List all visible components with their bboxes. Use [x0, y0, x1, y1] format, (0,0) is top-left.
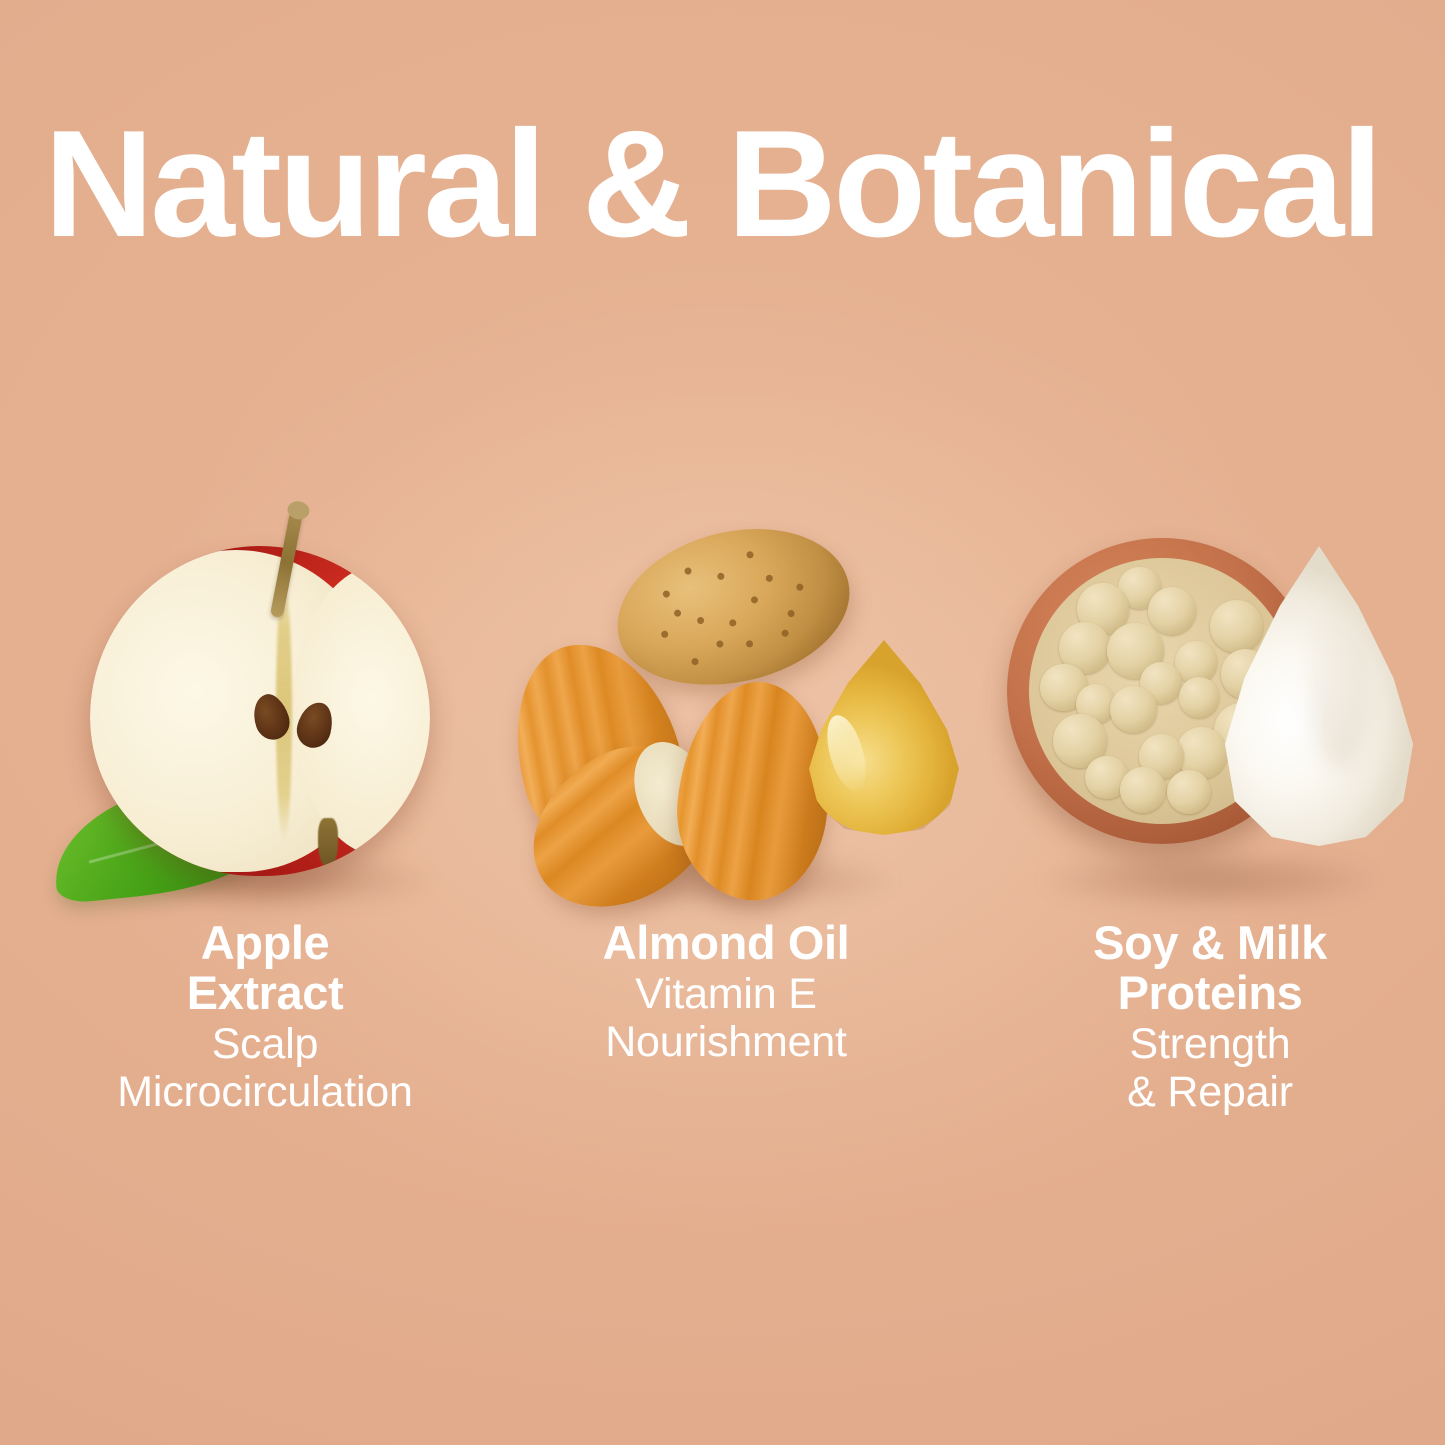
shell-pore — [787, 609, 795, 617]
apple-icon — [52, 538, 472, 888]
ingredient-benefit-line-1: Strength — [975, 1020, 1445, 1068]
apple-calyx — [318, 818, 338, 868]
poster-canvas: Natural & Botanical Apple Extract — [0, 0, 1445, 1445]
apple-body — [90, 546, 430, 876]
ingredient-benefit: Scalp Microcirculation — [30, 1020, 500, 1116]
almonds-icon — [509, 532, 949, 892]
ingredient-name: Apple Extract — [30, 918, 500, 1018]
shell-pore — [662, 590, 670, 598]
ingredient-card-soy-milk-proteins: Soy & Milk Proteins Strength & Repair — [975, 500, 1445, 915]
almond-oil-caption: Almond Oil Vitamin E Nourishment — [491, 918, 961, 1066]
ingredient-benefit-line-2: & Repair — [975, 1068, 1445, 1116]
ingredient-name: Soy & Milk Proteins — [975, 918, 1445, 1018]
shell-pore — [765, 574, 773, 582]
ingredient-benefit-line-2: Microcirculation — [30, 1068, 500, 1116]
shell-pore — [661, 630, 669, 638]
soybean — [1110, 686, 1157, 733]
shell-pore — [716, 640, 724, 648]
shell-pore — [691, 657, 699, 665]
oil-drop-icon — [809, 640, 959, 835]
apple-extract-caption: Apple Extract Scalp Microcirculation — [30, 918, 500, 1116]
soybean — [1210, 600, 1263, 653]
shell-pore — [796, 583, 804, 591]
soybean — [1120, 767, 1166, 813]
ingredient-name: Almond Oil — [491, 918, 961, 968]
shell-pore — [673, 609, 681, 617]
ingredient-name-line-1: Almond Oil — [491, 918, 961, 968]
soy-bowl-icon — [993, 528, 1433, 896]
ingredient-card-almond-oil: Almond Oil Vitamin E Nourishment — [491, 500, 961, 915]
shell-pore — [729, 619, 737, 627]
ingredient-name-line-1: Apple — [30, 918, 500, 968]
soy-milk-caption: Soy & Milk Proteins Strength & Repair — [975, 918, 1445, 1116]
shell-pore — [745, 551, 753, 559]
shell-pore — [781, 629, 789, 637]
ingredient-name-line-1: Soy & Milk — [975, 918, 1445, 968]
apple-extract-artwork — [30, 500, 500, 915]
ingredient-benefit-line-1: Vitamin E — [491, 970, 961, 1018]
almond-oil-artwork — [491, 500, 961, 915]
soybean — [1148, 587, 1196, 635]
almond-kernel — [668, 675, 840, 907]
shell-pore — [745, 640, 753, 648]
ingredient-card-apple-extract: Apple Extract Scalp Microcirculation — [30, 500, 500, 915]
apple-flesh — [90, 550, 386, 872]
shell-pore — [684, 567, 692, 575]
shell-pore — [716, 572, 724, 580]
soybean — [1167, 770, 1211, 814]
shell-pore — [750, 596, 758, 604]
ingredient-name-line-2: Extract — [30, 968, 500, 1018]
ingredient-benefit: Strength & Repair — [975, 1020, 1445, 1116]
soybean — [1179, 677, 1219, 717]
ingredient-name-line-2: Proteins — [975, 968, 1445, 1018]
ingredient-benefit-line-1: Scalp — [30, 1020, 500, 1068]
ingredient-benefit-line-2: Nourishment — [491, 1018, 961, 1066]
page-title: Natural & Botanical — [44, 108, 1380, 260]
ingredient-benefit: Vitamin E Nourishment — [491, 970, 961, 1066]
soy-milk-artwork — [975, 500, 1445, 915]
shell-pore — [697, 616, 705, 624]
